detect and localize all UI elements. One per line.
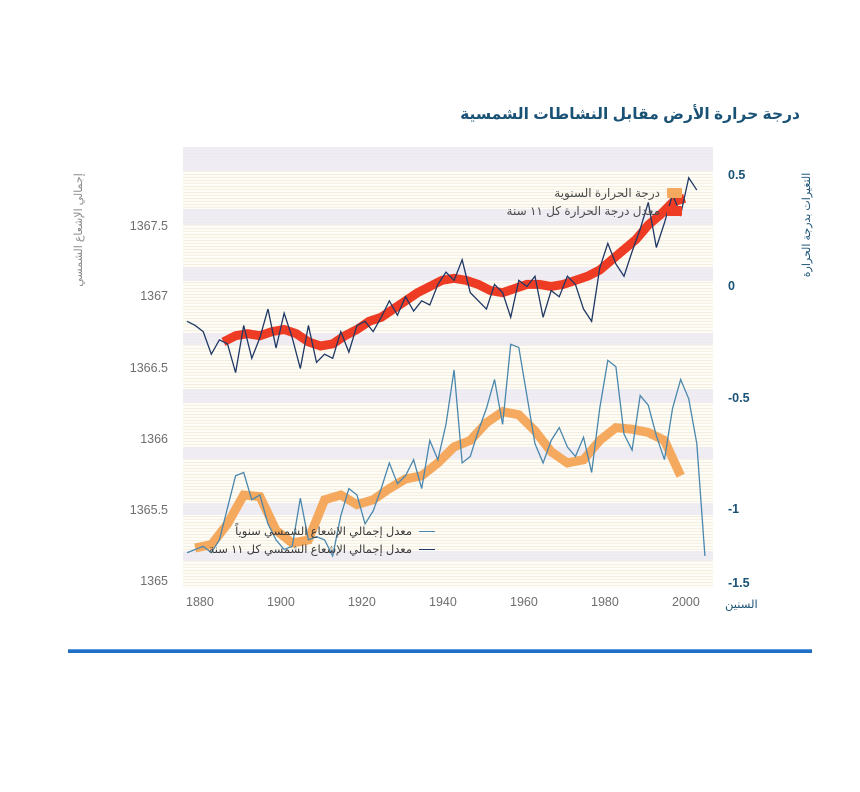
legend-temperature: درجة الحرارة السنوية معدل درجة الحرارة ك… xyxy=(507,186,682,222)
legend-item: درجة الحرارة السنوية xyxy=(507,186,682,200)
legend-swatch-11yr-temperature xyxy=(667,206,682,216)
legend-swatch-11yr-irradiance xyxy=(419,549,435,550)
x-tick: 1880 xyxy=(186,595,214,609)
legend-label: معدل درجة الحرارة كل ١١ سنة xyxy=(507,204,660,218)
legend-label: معدل إجمالي الإشعاع الشمسي كل ١١ سنة xyxy=(209,542,412,556)
legend-item: معدل درجة الحرارة كل ١١ سنة xyxy=(507,204,682,218)
legend-item: معدل إجمالي الإشعاع الشمسي سنوياً xyxy=(209,524,435,538)
x-tick: 2000 xyxy=(672,595,700,609)
y-right-tick: -1 xyxy=(728,502,739,516)
y-left-tick: 1366 xyxy=(98,432,168,446)
footer-divider xyxy=(68,649,812,653)
legend-label: معدل إجمالي الإشعاع الشمسي سنوياً xyxy=(235,524,412,538)
y-right-tick: 0.5 xyxy=(728,168,745,182)
y-left-axis-title: إجمالي الإشعاع الشمسي xyxy=(72,160,85,300)
y-right-tick: 0 xyxy=(728,279,735,293)
y-left-tick: 1365 xyxy=(98,574,168,588)
y-left-tick: 1366.5 xyxy=(98,361,168,375)
legend-irradiance: معدل إجمالي الإشعاع الشمسي سنوياً معدل إ… xyxy=(209,524,435,560)
x-tick: 1940 xyxy=(429,595,457,609)
legend-swatch-annual-temperature xyxy=(667,188,682,198)
y-left-tick: 1367 xyxy=(98,289,168,303)
legend-swatch-annual-irradiance xyxy=(419,531,435,532)
legend-label: درجة الحرارة السنوية xyxy=(554,186,660,200)
chart-figure: درجة حرارة الأرض مقابل النشاطات الشمسية … xyxy=(0,0,860,792)
page-title: درجة حرارة الأرض مقابل النشاطات الشمسية xyxy=(460,105,800,124)
x-tick: 1920 xyxy=(348,595,376,609)
y-right-tick: -0.5 xyxy=(728,391,750,405)
y-left-tick: 1365.5 xyxy=(98,503,168,517)
x-axis-title: السنين xyxy=(725,597,758,611)
y-right-tick: -1.5 xyxy=(728,576,750,590)
y-right-axis-title: التغيرات بدرجة الحرارة xyxy=(800,150,813,300)
x-tick: 1960 xyxy=(510,595,538,609)
x-tick: 1980 xyxy=(591,595,619,609)
legend-item: معدل إجمالي الإشعاع الشمسي كل ١١ سنة xyxy=(209,542,435,556)
x-tick: 1900 xyxy=(267,595,295,609)
y-left-tick: 1367.5 xyxy=(98,219,168,233)
